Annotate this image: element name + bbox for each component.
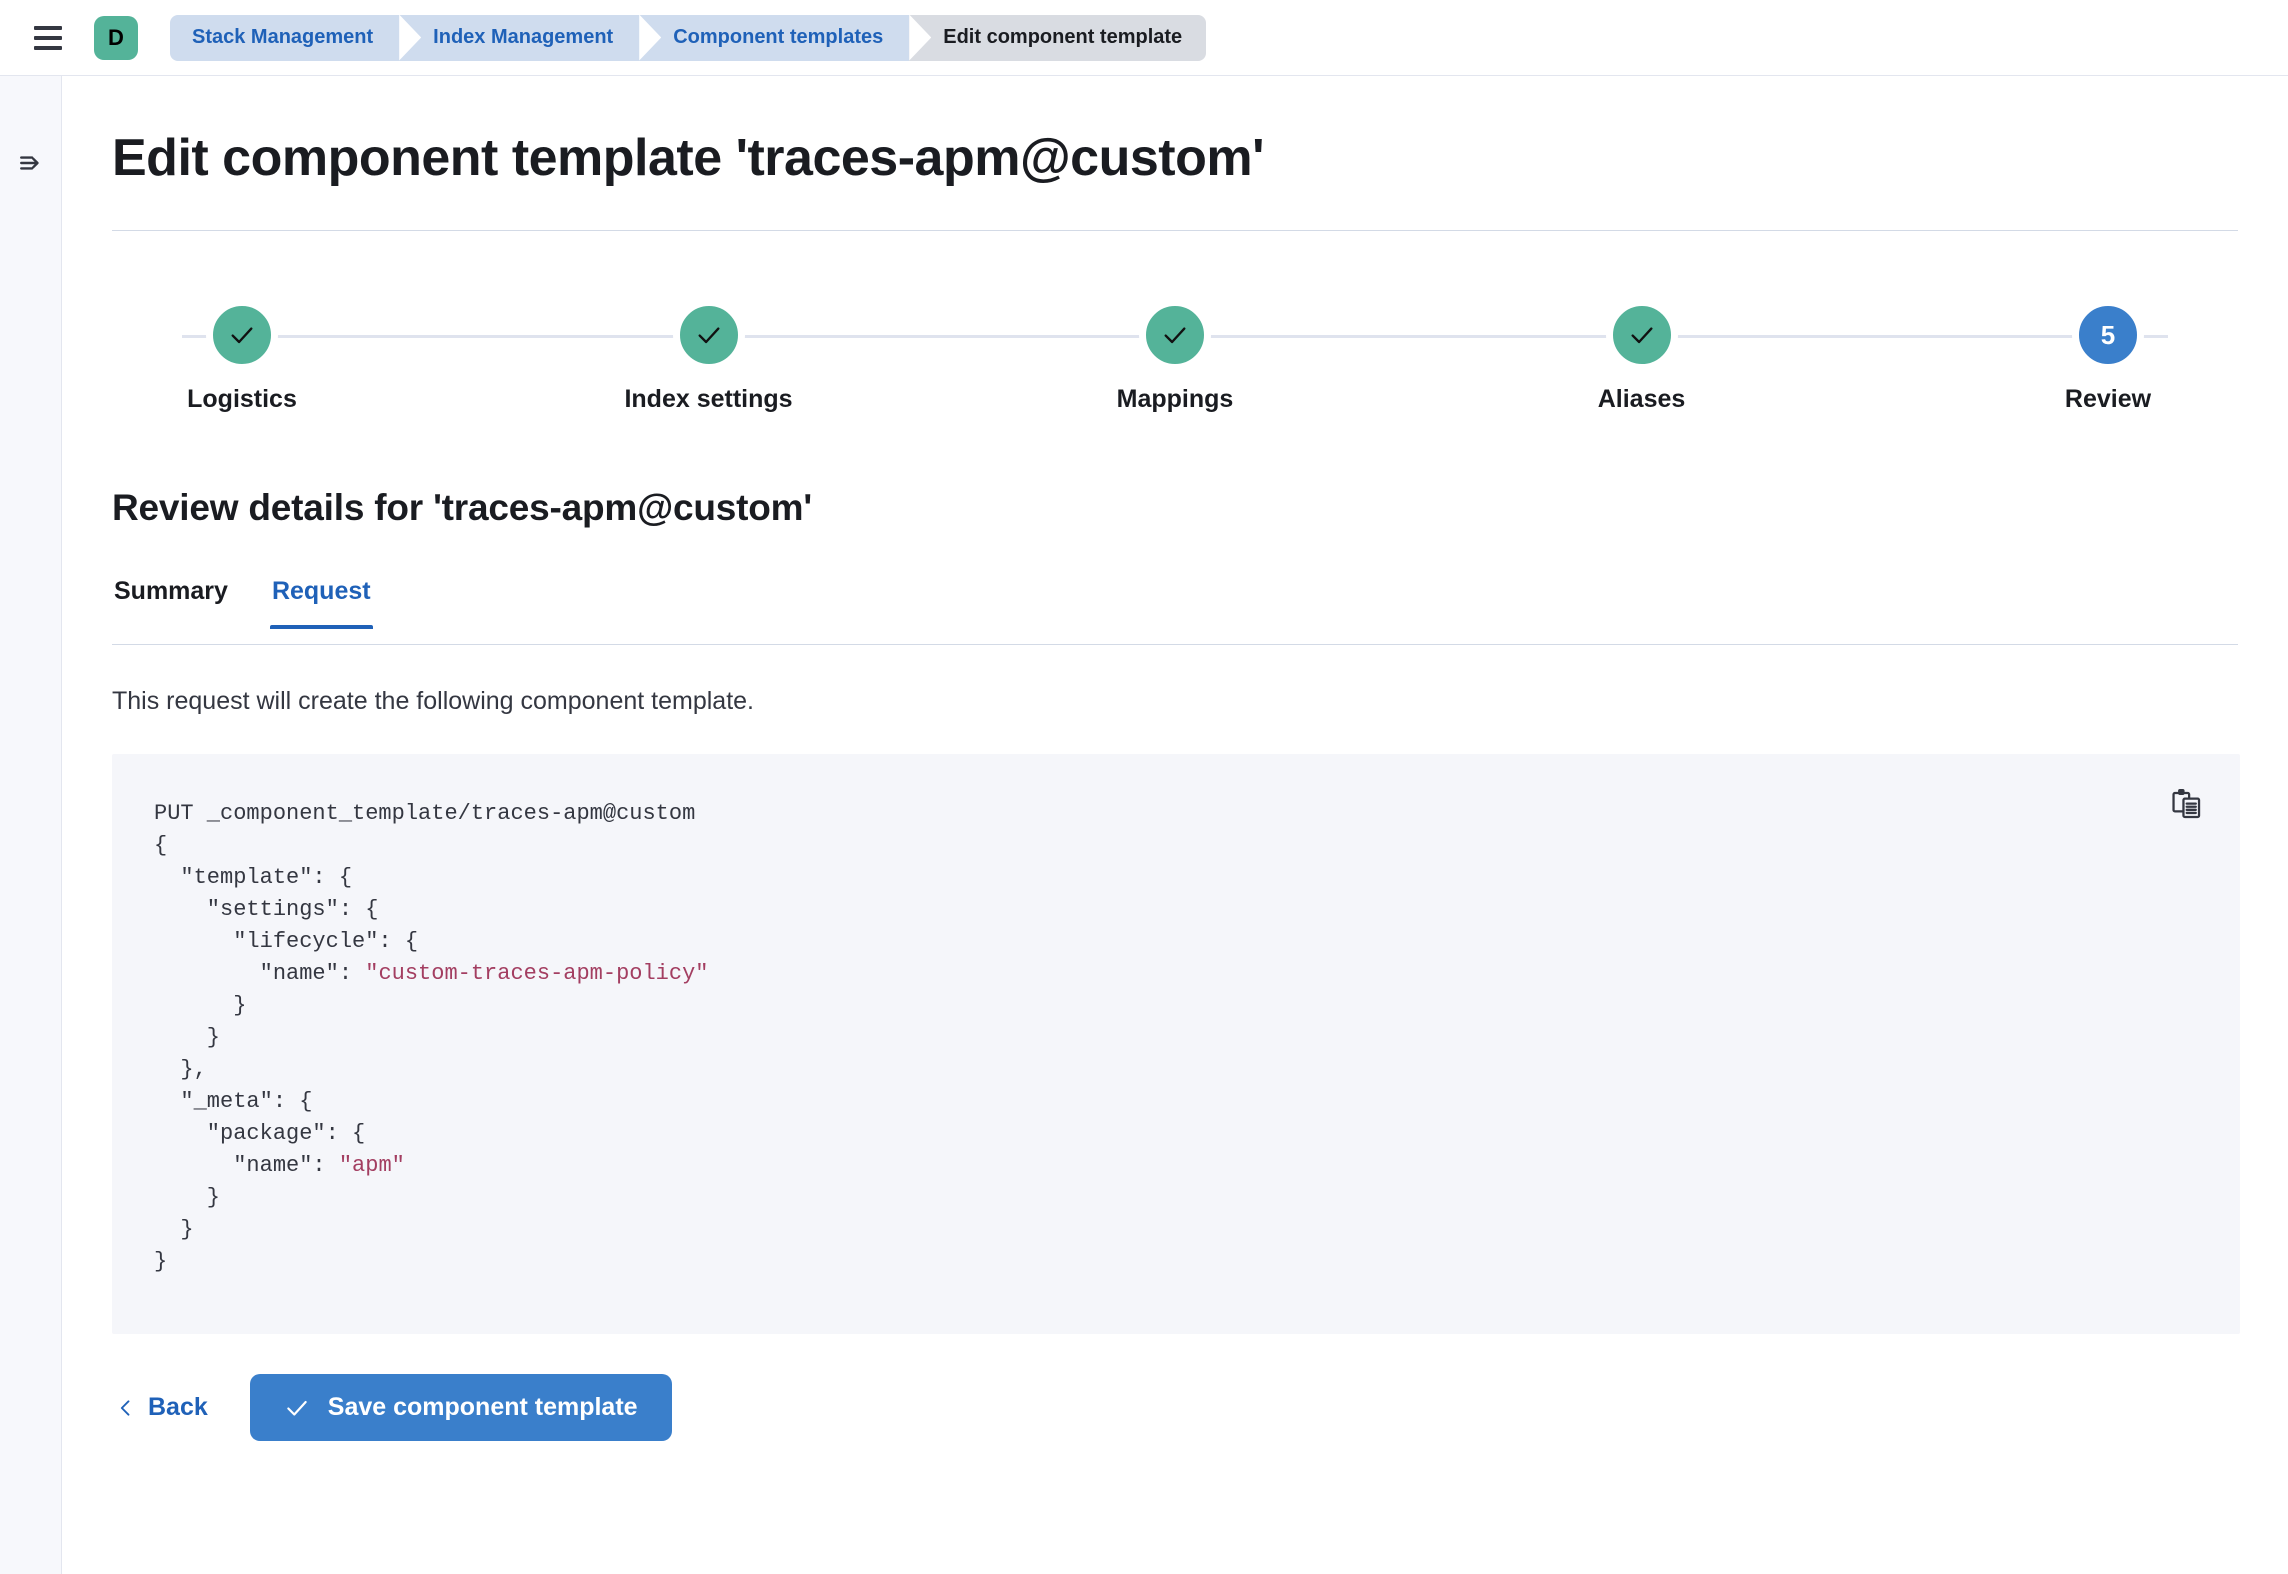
wizard-actions: Back Save component template <box>112 1374 2288 1441</box>
step-label: Review <box>2065 385 2151 414</box>
code-line: }, <box>154 1057 207 1082</box>
expand-sidebar-arrow-icon[interactable] <box>14 146 48 180</box>
step-circle-complete-icon <box>1139 299 1211 371</box>
check-icon <box>284 1395 310 1421</box>
code-line: } <box>154 1249 167 1274</box>
tab-summary[interactable]: Summary <box>112 573 230 628</box>
step-label: Aliases <box>1598 385 1686 414</box>
breadcrumb-item-edit-component-template: Edit component template <box>909 15 1206 61</box>
breadcrumb-item-component-templates[interactable]: Component templates <box>639 15 909 61</box>
save-button-label: Save component template <box>328 1393 638 1422</box>
code-line: { <box>154 833 167 858</box>
code-line-name-package: "name": "apm" <box>154 1153 405 1178</box>
step-review[interactable]: 5 Review <box>1978 299 2238 414</box>
code-line: } <box>154 1217 194 1242</box>
page-title: Edit component template 'traces-apm@cust… <box>112 128 2288 188</box>
code-string-value: "apm" <box>339 1153 405 1178</box>
step-circle-complete-icon <box>673 299 745 371</box>
back-button-label: Back <box>148 1393 208 1422</box>
back-button[interactable]: Back <box>112 1383 212 1432</box>
step-circle-complete-icon <box>1606 299 1678 371</box>
breadcrumb-label: Component templates <box>673 26 883 49</box>
avatar[interactable]: D <box>94 16 138 60</box>
step-circle-current: 5 <box>2072 299 2144 371</box>
step-label: Logistics <box>187 385 297 414</box>
request-description: This request will create the following c… <box>112 687 2288 716</box>
left-nav-rail <box>0 76 62 1574</box>
code-line: "_meta": { <box>154 1089 312 1114</box>
step-logistics[interactable]: Logistics <box>112 299 372 414</box>
wizard-stepper: Logistics Index settings Mappings Aliase… <box>112 299 2238 429</box>
section-title: Review details for 'traces-apm@custom' <box>112 487 2288 529</box>
breadcrumb-label: Index Management <box>433 26 613 49</box>
code-line: PUT _component_template/traces-apm@custo… <box>154 801 695 826</box>
code-line-name-lifecycle: "name": "custom-traces-apm-policy" <box>154 961 709 986</box>
code-string-value: "custom-traces-apm-policy" <box>365 961 708 986</box>
request-code-block: PUT _component_template/traces-apm@custo… <box>112 754 2240 1334</box>
main-content: Edit component template 'traces-apm@cust… <box>62 76 2288 1574</box>
step-aliases[interactable]: Aliases <box>1512 299 1772 414</box>
breadcrumb-item-index-management[interactable]: Index Management <box>399 15 639 61</box>
code-line: } <box>154 993 246 1018</box>
breadcrumb-label: Edit component template <box>943 26 1182 49</box>
code-line: "template": { <box>154 865 352 890</box>
review-tabs: Summary Request <box>112 573 2238 645</box>
code-line: "settings": { <box>154 897 378 922</box>
step-circle-complete-icon <box>206 299 278 371</box>
tab-request[interactable]: Request <box>270 573 373 628</box>
breadcrumb-item-stack-management[interactable]: Stack Management <box>170 15 399 61</box>
breadcrumb-label: Stack Management <box>192 26 373 49</box>
save-component-template-button[interactable]: Save component template <box>250 1374 672 1441</box>
breadcrumb: Stack Management Index Management Compon… <box>170 15 1206 61</box>
title-divider <box>112 230 2238 231</box>
code-line: "package": { <box>154 1121 365 1146</box>
app-header: D Stack Management Index Management Comp… <box>0 0 2288 76</box>
step-label: Mappings <box>1117 385 1234 414</box>
step-mappings[interactable]: Mappings <box>1045 299 1305 414</box>
copy-clipboard-icon[interactable] <box>2164 782 2210 828</box>
code-line: } <box>154 1185 220 1210</box>
step-index-settings[interactable]: Index settings <box>579 299 839 414</box>
request-code-text: PUT _component_template/traces-apm@custo… <box>154 798 2190 1278</box>
step-number: 5 <box>2101 320 2115 351</box>
code-line: "lifecycle": { <box>154 929 418 954</box>
step-label: Index settings <box>624 385 792 414</box>
chevron-left-icon <box>116 1397 136 1419</box>
hamburger-menu-icon[interactable] <box>26 16 70 60</box>
code-line: } <box>154 1025 220 1050</box>
